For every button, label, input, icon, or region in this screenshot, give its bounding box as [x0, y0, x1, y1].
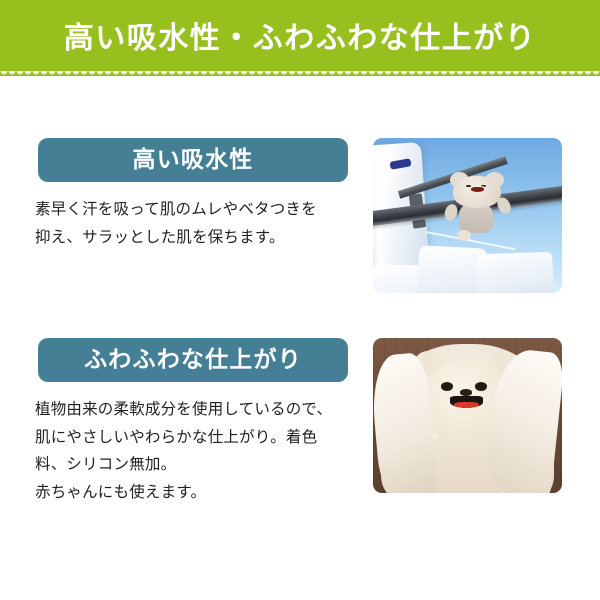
banner-title: 高い吸水性・ふわふわな仕上がり: [0, 0, 600, 70]
hanging-laundry-b: [476, 251, 553, 293]
bear2-nose: [460, 389, 472, 395]
feature-heading-pill-2: ふわふわな仕上がり: [38, 338, 348, 382]
bear-mouth: [471, 187, 483, 192]
feature-photo-2: [373, 338, 562, 493]
bear2-tongue: [454, 402, 480, 408]
bear2-eye-left: [441, 382, 453, 391]
bear2-mouth: [450, 396, 484, 408]
header-banner: 高い吸水性・ふわふわな仕上がり: [0, 0, 600, 76]
bear-foot: [457, 230, 472, 240]
feature-text-column-1: 高い吸水性 素早く汗を吸って肌のムレやベタつきを 抑え、サラッとした肌を保ちます…: [35, 138, 355, 251]
bear-head: [453, 176, 501, 207]
feature-heading-label-1: 高い吸水性: [133, 149, 254, 172]
bear2-eye-right: [475, 382, 487, 391]
feature-text-column-2: ふわふわな仕上がり 植物由来の柔軟成分を使用しているので、 肌にやさしいやわらか…: [35, 338, 355, 506]
content-area: 高い吸水性 素早く汗を吸って肌のムレやベタつきを 抑え、サラッとした肌を保ちます…: [0, 76, 600, 600]
teddy-bear-on-pole: [449, 171, 506, 236]
feature-photo-1: [373, 138, 562, 293]
feature-heading-label-2: ふわふわな仕上がり: [84, 349, 302, 372]
feature-body-text-2: 植物由来の柔軟成分を使用しているので、 肌にやさしいやわらかな仕上がり。着色 料…: [35, 396, 353, 506]
feature-heading-pill-1: 高い吸水性: [38, 138, 348, 182]
feature-body-text-1: 素早く汗を吸って肌のムレやベタつきを 抑え、サラッとした肌を保ちます。: [35, 196, 353, 251]
banner-scallop-edge: [0, 69, 600, 76]
